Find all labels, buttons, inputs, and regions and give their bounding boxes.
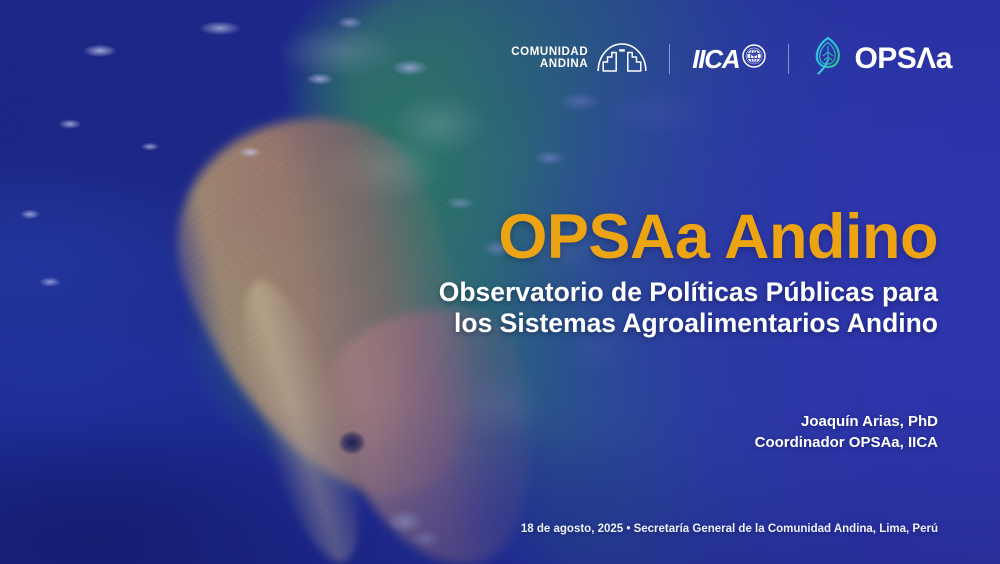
logo-opsaa: OPSΛa [811,36,952,81]
andean-arch-icon [597,41,647,77]
logo-divider-2 [788,44,789,74]
comunidad-andina-line2: ANDINA [540,59,588,71]
logo-bar: COMUNIDAD ANDINA IICA [511,36,952,81]
subtitle-line-2: los Sistemas Agroalimentarios Andino [378,308,938,339]
author-name: Joaquín Arias, PhD [478,411,938,432]
author-role: Coordinador OPSAa, IICA [478,432,938,453]
title-block: OPSAa Andino Observatorio de Políticas P… [378,206,938,340]
footer-event-info: 18 de agosto, 2025 • Secretaría General … [318,522,938,537]
presentation-title-slide: COMUNIDAD ANDINA IICA [0,0,1000,564]
globe-icon [742,44,766,73]
logo-divider-1 [669,44,670,74]
comunidad-andina-line1: COMUNIDAD [511,47,588,59]
leaf-icon [811,36,845,81]
logo-iica: IICA [692,44,766,73]
page-subtitle: Observatorio de Políticas Públicas para … [378,277,938,340]
opsaa-wordmark: OPSΛa [854,44,952,74]
iica-wordmark: IICA [692,46,739,72]
comunidad-andina-wordmark: COMUNIDAD ANDINA [511,47,588,70]
logo-comunidad-andina: COMUNIDAD ANDINA [511,41,647,77]
subtitle-line-1: Observatorio de Políticas Públicas para [378,277,938,308]
page-title: OPSAa Andino [378,206,938,269]
author-block: Joaquín Arias, PhD Coordinador OPSAa, II… [478,411,938,454]
